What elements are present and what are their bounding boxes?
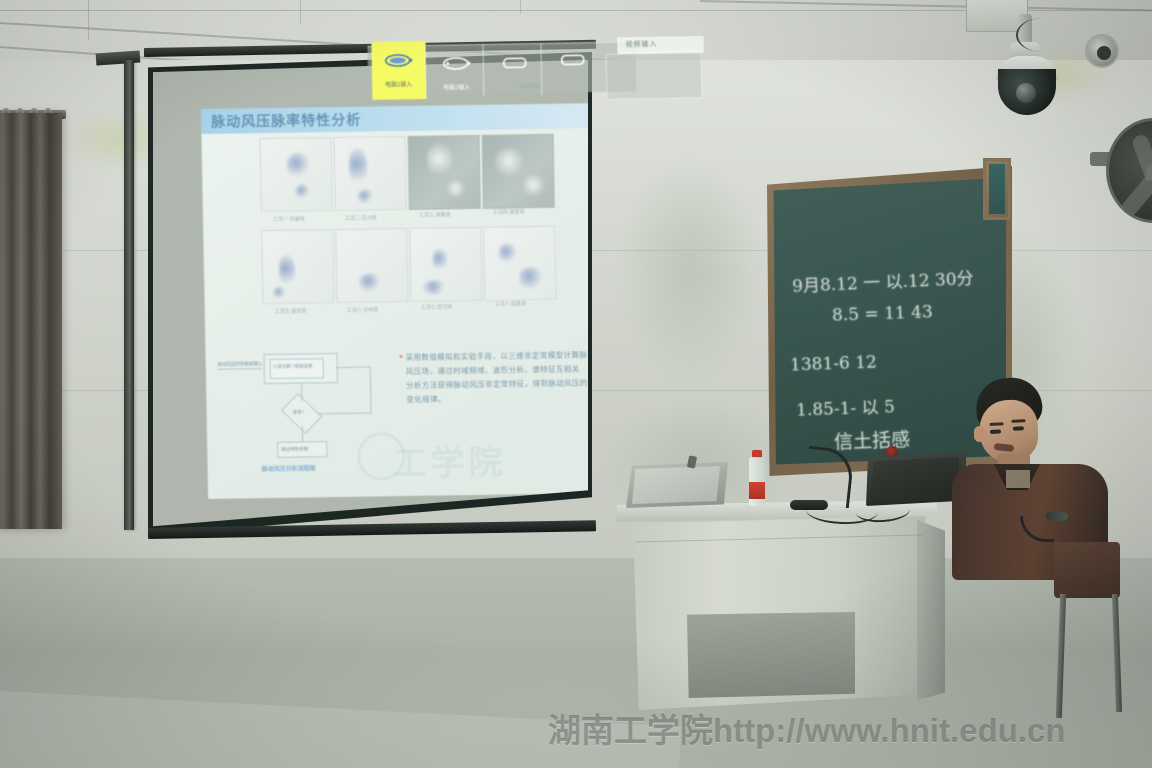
slide-image: [260, 137, 333, 212]
bottle-label: [749, 482, 765, 499]
osd-tile-label: 电脑2输入: [443, 82, 470, 91]
wall-stain: [620, 160, 760, 380]
slide-caption: 工况二 压力场: [345, 214, 377, 221]
wall-picture-frame: [983, 158, 1011, 220]
projected-slide: 脉动风压脉率特性分析: [201, 103, 588, 499]
vga-connector-icon: [441, 56, 471, 76]
slide-caption: 工况八 结果场: [495, 300, 527, 307]
chalk-line: 1381-6 12: [790, 352, 878, 375]
slide-image: [483, 226, 556, 301]
flow-label: 收敛?: [293, 410, 305, 416]
laptop-screen: [632, 466, 720, 504]
presenter-shirt: [1006, 470, 1030, 488]
fan-cage: [1106, 118, 1152, 223]
podium-side-panel: [917, 520, 945, 700]
osd-tile-video-4[interactable]: [545, 40, 600, 93]
projector-osd-menu[interactable]: 电脑1输入 电脑2输入: [367, 12, 699, 108]
video-input-icon: [500, 55, 528, 74]
projection-screen: 脉动风压脉率特性分析: [148, 52, 592, 536]
wall-fan-icon: [1106, 118, 1152, 223]
flow-line: [370, 367, 372, 415]
osd-tile-label: 电脑1输入: [385, 79, 412, 88]
secondary-camera-icon: [1085, 34, 1119, 68]
osd-menu-title: 视频输入: [625, 39, 657, 50]
flow-label: 输出特性参数: [281, 446, 308, 452]
osd-tile-computer-2[interactable]: 电脑2输入: [429, 44, 484, 97]
vga-connector-icon: [383, 53, 413, 73]
slide-image: [261, 229, 334, 304]
slide-image: [409, 227, 482, 302]
camera-lens-icon: [1016, 83, 1036, 103]
chair-back: [1054, 542, 1120, 598]
camera-dome: [998, 69, 1056, 115]
site-watermark: 湖南工学院http://www.hnit.edu.cn: [548, 704, 1066, 752]
silver-laptop[interactable]: [626, 462, 732, 514]
ceiling-line: [88, 0, 89, 40]
bullet-line: 变化规律。: [406, 390, 588, 407]
slide-caption: 工况一 风速场: [273, 215, 305, 222]
flowchart-caption: 脉动风压分析流程图: [262, 463, 316, 473]
presenter-eye: [990, 429, 1001, 434]
lecture-hall-photo: 脉动风压脉率特性分析: [0, 0, 1152, 768]
presenter-brow: [990, 422, 1004, 426]
laptop-screen: [871, 457, 959, 499]
chair-leg: [1112, 594, 1122, 712]
flow-label: 小波分解 / 频域变换: [273, 363, 313, 370]
slide-watermark: 工学院: [392, 435, 507, 486]
flow-line: [336, 367, 370, 369]
chalk-line: 信土括感: [834, 425, 911, 455]
chalk-line: 9月8.12 一 以.12 30分: [792, 264, 974, 297]
picture-content: [989, 164, 1005, 214]
presenter-ear: [974, 426, 985, 442]
video-input-icon: [559, 52, 587, 71]
second-microphone-head-icon: [1046, 512, 1068, 521]
bullet-marker: [400, 355, 403, 358]
slide-caption: 工况五 湍流场: [275, 307, 307, 314]
slide-caption: 工况七 应力场: [421, 303, 453, 310]
chair-leg: [1056, 594, 1066, 718]
flow-line: [218, 368, 262, 370]
slide-bullets: 采用数值模拟和实验手段，以三维非定常模型计算脉动 风压场，通过时域频域、波形分析…: [405, 348, 588, 407]
slide-title: 脉动风压脉率特性分析: [211, 110, 361, 132]
slide-image-grid: 工况一 风速场 工况二 压力场 工况三 涡量场 工况四 速度场: [260, 134, 564, 338]
osd-preview-panel: [606, 52, 703, 100]
window-curtain: [0, 113, 62, 529]
door-frame: [124, 60, 134, 530]
camera-wire: [1016, 18, 1068, 52]
slide-caption: 工况三 涡量场: [419, 211, 451, 218]
slide-image: [335, 228, 408, 303]
presenter-eye: [1013, 426, 1024, 431]
slide-caption: 工况六 分布场: [347, 306, 379, 313]
slide-caption: 工况四 速度场: [493, 208, 525, 215]
lecture-podium: [617, 500, 937, 710]
flow-label: 脉动风压时程数据输入: [218, 361, 263, 368]
chalk-line: 1.85-1- 以 5: [796, 392, 896, 420]
wooden-chair: [1044, 542, 1130, 718]
presenter-brow: [1011, 419, 1025, 423]
slide-image: [334, 136, 407, 211]
slide-image: [482, 134, 555, 209]
ceiling-line: [300, 0, 301, 24]
secondary-camera-lens: [1097, 46, 1111, 60]
water-bottle-icon: [748, 450, 766, 506]
osd-hdmi-label: HDMI: [520, 83, 542, 90]
screen-surface: 脉动风压脉率特性分析: [153, 57, 588, 531]
slide-image: [408, 135, 481, 210]
ceiling-line: [520, 0, 521, 14]
chalk-line: 8.5 = 11 43: [832, 302, 933, 326]
flow-line: [319, 413, 371, 415]
osd-tile-computer-1[interactable]: 电脑1输入: [371, 41, 426, 100]
podium-lower-panel: [687, 612, 855, 698]
